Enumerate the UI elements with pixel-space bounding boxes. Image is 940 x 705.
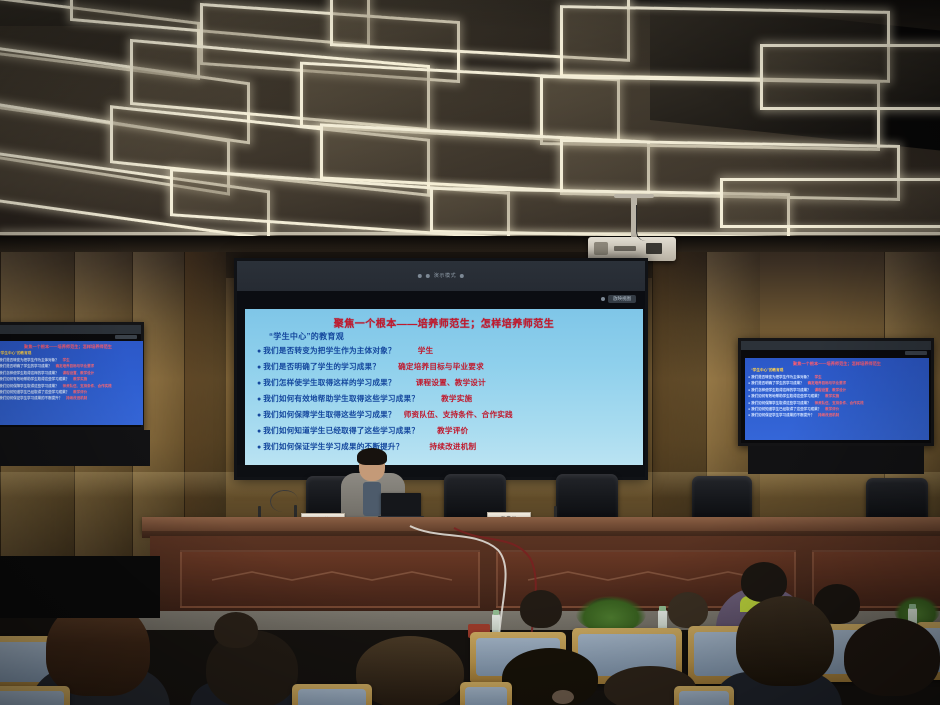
ceiling-light-panel: [720, 178, 940, 228]
main-projection-screen[interactable]: 演示模式 放映视图 聚焦一个根本——培养师范生；怎样培养师范生 “学生中心”的教…: [234, 258, 648, 480]
bullet-icon: ●: [257, 364, 261, 371]
auditorium-seat[interactable]: [460, 682, 512, 705]
monitor-answer: 教学实施: [825, 394, 839, 399]
monitor-slide: 聚焦一个根本——培养师范生；怎样培养师范生 “学生中心”的教育观 ●我们是否转变…: [0, 341, 143, 425]
monitor-question: 我们如何有效地帮助学生取得这些学习成果？: [0, 377, 69, 382]
lecture-hall-photo: 演示模式 放映视图 聚焦一个根本——培养师范生；怎样培养师范生 “学生中心”的教…: [0, 0, 940, 705]
slide-row: ● 我们如何保障学生取得这些学习成果？ 师资队伍、支持条件、合作实践: [257, 409, 635, 425]
bullet-icon: ●: [257, 380, 261, 387]
monitor-question: 我们如何保障学生取得这些学习成果？: [0, 384, 59, 389]
monitor-toolbar: [741, 341, 931, 350]
status-dot-icon: [601, 297, 605, 301]
bullet-icon: ●: [748, 401, 750, 405]
monitor-toolbar: [0, 325, 141, 334]
ceiling: [0, 0, 940, 258]
auditorium-seat[interactable]: [292, 684, 372, 705]
auditorium-seat[interactable]: [674, 686, 734, 705]
bullet-icon: ●: [257, 444, 261, 451]
speaker-shirt: [363, 482, 381, 516]
bullet-icon: ●: [257, 396, 261, 403]
slide-question: 我们是否明确了学生的学习成果？: [263, 361, 380, 372]
person-head: [356, 636, 464, 705]
person-head: [736, 596, 834, 686]
monitor-slide: 聚焦一个根本——培养师范生；怎样培养师范生 “学生中心”的教育观 ●我们是否转变…: [745, 358, 929, 440]
monitor-question: 我们如何知道学生已经取得了这些学习成果？: [0, 390, 69, 395]
auditorium-seat[interactable]: [0, 686, 70, 705]
bottle-cap: [493, 610, 499, 615]
monitor-status-chip: [905, 351, 927, 355]
monitor-slide-subtitle: “学生中心”的教育观: [0, 351, 143, 356]
right-monitor-stand: [748, 446, 924, 474]
slide-answer: 教学评价: [437, 425, 468, 436]
conference-chair[interactable]: [692, 476, 752, 520]
right-display-monitor[interactable]: 聚焦一个根本——培养师范生；怎样培养师范生 “学生中心”的教育观 ●我们是否转变…: [738, 338, 934, 446]
slide-question: 我们如何知道学生已经取得了这些学习成果？: [263, 425, 419, 436]
monitor-question: 我们怎样使学生取得这样的学习成果？: [751, 388, 811, 393]
projector-cable: [636, 205, 650, 241]
speaker-hair: [357, 448, 387, 465]
seat-cushion: [0, 691, 64, 705]
seat-cushion: [298, 689, 366, 705]
monitor-answer: 课程设置、教学设计: [63, 371, 95, 376]
bullet-icon: ●: [748, 413, 750, 417]
bullet-icon: ●: [748, 381, 750, 385]
toolbar-controls[interactable]: 演示模式: [418, 272, 464, 279]
monitor-question: 我们是否明确了学生的学习成果？: [751, 381, 804, 386]
person-head: [520, 590, 562, 628]
bullet-icon: ●: [748, 388, 750, 392]
monitor-answer: 持续改进机制: [66, 396, 87, 401]
bullet-icon: ●: [748, 375, 750, 379]
person-head: [844, 618, 940, 696]
bullet-icon: ●: [748, 407, 750, 411]
monitor-slide-title: 聚焦一个根本——培养师范生；怎样培养师范生: [0, 344, 143, 350]
hair-accessory: [552, 690, 574, 704]
slide-question: 我们是否转变为把学生作为主体对象？: [263, 345, 396, 356]
monitor-answer: 教学评价: [825, 407, 839, 412]
toolbar-label: 演示模式: [434, 272, 456, 279]
foreground-dark-screen: [0, 556, 160, 618]
monitor-slide-subtitle: “学生中心”的教育观: [751, 368, 929, 373]
slide-answer: 持续改进机制: [430, 441, 477, 452]
slide-bullet-list: ● 我们是否转变为把学生作为主体对象？ 学生 ● 我们是否明确了学生的学习成果？…: [257, 345, 635, 457]
slide-row: ● 我们如何保证学生学习成果的不断提升？ 持续改进机制: [257, 441, 635, 457]
monitor-row: ●我们如何保证学生学习成果的不断提升？持续改进机制: [0, 396, 143, 402]
toolbar-dot-icon: [460, 274, 464, 278]
conference-chair[interactable]: [556, 474, 618, 520]
slideshow-chip[interactable]: 放映视图: [608, 295, 636, 303]
monitor-answer: 师资队伍、支持条件、合作实践: [63, 384, 112, 389]
slide-content: 聚焦一个根本——培养师范生；怎样培养师范生 “学生中心”的教育观 ● 我们是否转…: [245, 309, 643, 471]
slide-row: ● 我们是否明确了学生的学习成果？ 确定培养目标与毕业要求: [257, 361, 635, 377]
monitor-question: 我们如何有效地帮助学生取得这些学习成果？: [751, 394, 821, 399]
toolbar-dot-icon: [418, 274, 422, 278]
conference-chair[interactable]: [866, 478, 928, 522]
slide-question: 我们如何保障学生取得这些学习成果？: [263, 409, 396, 420]
bullet-icon: ●: [748, 394, 750, 398]
presentation-toolbar[interactable]: 演示模式: [237, 261, 645, 291]
slide-answer: 学生: [418, 345, 434, 356]
slide-answer: 教学实施: [441, 393, 472, 404]
bullet-icon: ●: [257, 348, 261, 355]
monitor-answer: 课程设置、教学设计: [815, 388, 847, 393]
slide-title: 聚焦一个根本——培养师范生；怎样培养师范生: [245, 315, 643, 330]
slide-row: ● 我们如何知道学生已经取得了这些学习成果？ 教学评价: [257, 425, 635, 441]
monitor-answer: 学生: [815, 375, 822, 380]
bottle-cap: [659, 606, 666, 611]
monitor-question: 我们是否转变为把学生作为主体对象？: [751, 375, 811, 380]
slide-answer: 确定培养目标与毕业要求: [398, 361, 484, 372]
monitor-question: 我们是否转变为把学生作为主体对象？: [0, 358, 59, 363]
slide-row: ● 我们是否转变为把学生作为主体对象？ 学生: [257, 345, 635, 361]
seat-cushion: [679, 691, 729, 705]
projector-mount-plate: [614, 194, 654, 198]
toolbar-dot-icon: [426, 274, 430, 278]
potted-plant: [576, 596, 646, 632]
monitor-answer: 教学实施: [73, 377, 87, 382]
monitor-question: 我们是否明确了学生的学习成果？: [0, 364, 52, 369]
projector-vent: [614, 246, 636, 251]
slide-answer: 师资队伍、支持条件、合作实践: [404, 409, 513, 420]
slide-row: ● 我们如何有效地帮助学生取得这些学习成果？ 教学实施: [257, 393, 635, 409]
monitor-row: ●我们如何保证学生学习成果的不断提升？持续改进机制: [745, 413, 929, 419]
slide-row: ● 我们怎样使学生取得这样的学习成果？ 课程设置、教学设计: [257, 377, 635, 393]
monitor-answer: 学生: [63, 358, 70, 363]
bullet-icon: ●: [257, 428, 261, 435]
monitor-question: 我们如何知道学生已经取得了这些学习成果？: [751, 407, 821, 412]
person-head: [668, 592, 708, 628]
seat-cushion: [465, 687, 507, 705]
projector-lens: [594, 242, 608, 255]
ceiling-light-panel: [760, 44, 940, 110]
monitor-slide-title: 聚焦一个根本——培养师范生；怎样培养师范生: [745, 361, 929, 367]
left-display-monitor[interactable]: 聚焦一个根本——培养师范生；怎样培养师范生 “学生中心”的教育观 ●我们是否转变…: [0, 322, 144, 430]
monitor-question: 我们怎样使学生取得这样的学习成果？: [0, 371, 59, 376]
monitor-answer: 师资队伍、支持条件、合作实践: [815, 401, 864, 406]
left-monitor-stand: [0, 430, 150, 466]
bullet-icon: ●: [257, 412, 261, 419]
slide-subtitle: “学生中心”的教育观: [269, 331, 344, 342]
bottle-cap: [909, 604, 916, 609]
slide-question: 我们怎样使学生取得这样的学习成果？: [263, 377, 396, 388]
monitor-answer: 确定培养目标与毕业要求: [56, 364, 95, 369]
projector-connector-block: [646, 243, 662, 254]
ceiling-cove-light: [0, 232, 940, 235]
monitor-answer: 教学评价: [73, 390, 87, 395]
monitor-question: 我们如何保障学生取得这些学习成果？: [751, 401, 811, 406]
slide-question: 我们如何有效地帮助学生取得这些学习成果？: [263, 393, 419, 404]
slideshow-status[interactable]: 放映视图: [601, 295, 636, 303]
person-head: [214, 612, 258, 648]
monitor-question: 我们如何保证学生学习成果的不断提升？: [751, 413, 814, 418]
wall-top-strip: [0, 236, 940, 252]
monitor-answer: 持续改进机制: [818, 413, 839, 418]
monitor-question: 我们如何保证学生学习成果的不断提升？: [0, 396, 62, 401]
monitor-answer: 确定培养目标与毕业要求: [808, 381, 847, 386]
person-head: [502, 648, 598, 705]
slide-answer: 课程设置、教学设计: [416, 377, 486, 388]
monitor-status-chip: [115, 335, 137, 339]
